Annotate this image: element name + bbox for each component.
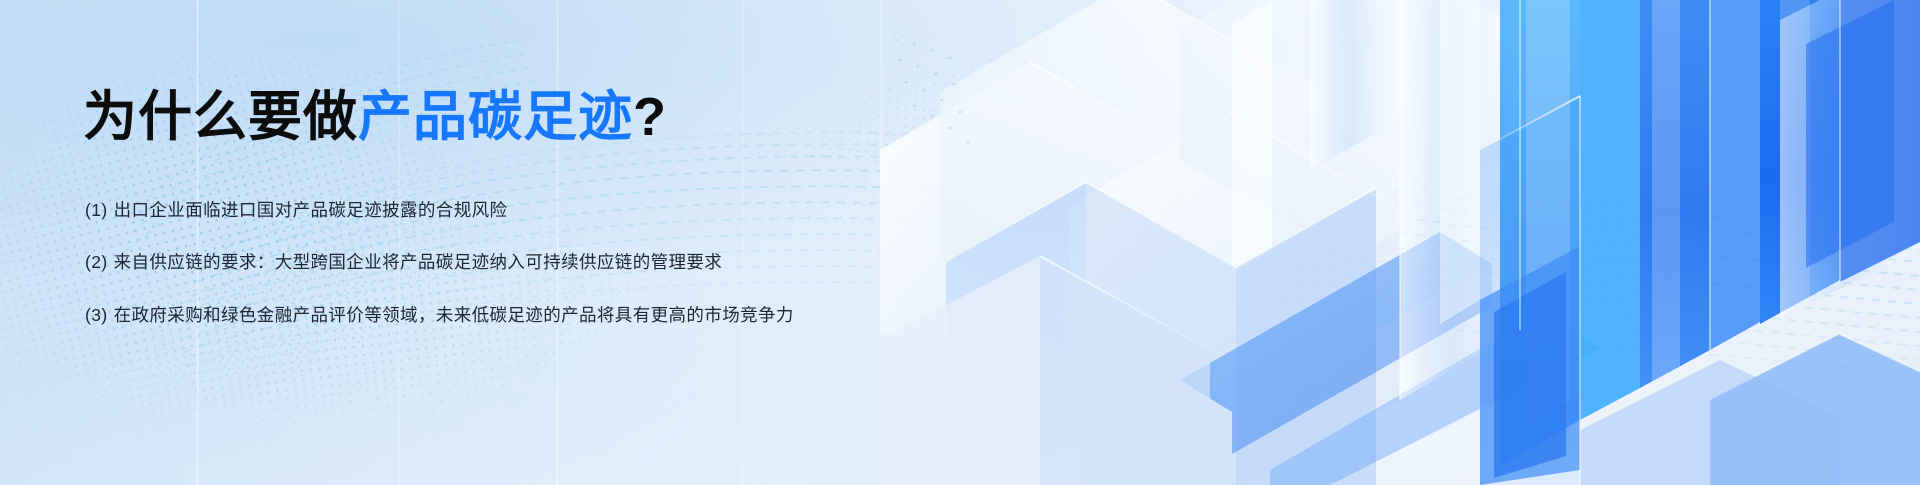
page-title-accent: 产品碳足迹	[358, 87, 633, 147]
list-item-index: (2)	[85, 252, 108, 272]
list-item: (1)出口企业面临进口国对产品碳足迹披露的合规风险	[85, 198, 794, 223]
list-item-text: 出口企业面临进口国对产品碳足迹披露的合规风险	[114, 200, 508, 220]
page-title-lead: 为什么要做	[83, 87, 358, 147]
banner-content: 为什么要做产品碳足迹? (1)出口企业面临进口国对产品碳足迹披露的合规风险 (2…	[83, 0, 1083, 485]
list-item-text: 来自供应链的要求：大型跨国企业将产品碳足迹纳入可持续供应链的管理要求	[114, 252, 723, 272]
hero-banner: 为什么要做产品碳足迹? (1)出口企业面临进口国对产品碳足迹披露的合规风险 (2…	[0, 0, 1920, 485]
list-item: (2)来自供应链的要求：大型跨国企业将产品碳足迹纳入可持续供应链的管理要求	[85, 250, 794, 275]
page-title: 为什么要做产品碳足迹?	[83, 86, 667, 148]
list-item-text: 在政府采购和绿色金融产品评价等领域，未来低碳足迹的产品将具有更高的市场竞争力	[114, 305, 794, 325]
page-title-question-mark: ?	[633, 87, 667, 147]
list-item: (3)在政府采购和绿色金融产品评价等领域，未来低碳足迹的产品将具有更高的市场竞争…	[85, 303, 794, 328]
list-item-index: (3)	[85, 305, 108, 325]
reason-list: (1)出口企业面临进口国对产品碳足迹披露的合规风险 (2)来自供应链的要求：大型…	[85, 198, 794, 328]
list-item-index: (1)	[85, 200, 108, 220]
